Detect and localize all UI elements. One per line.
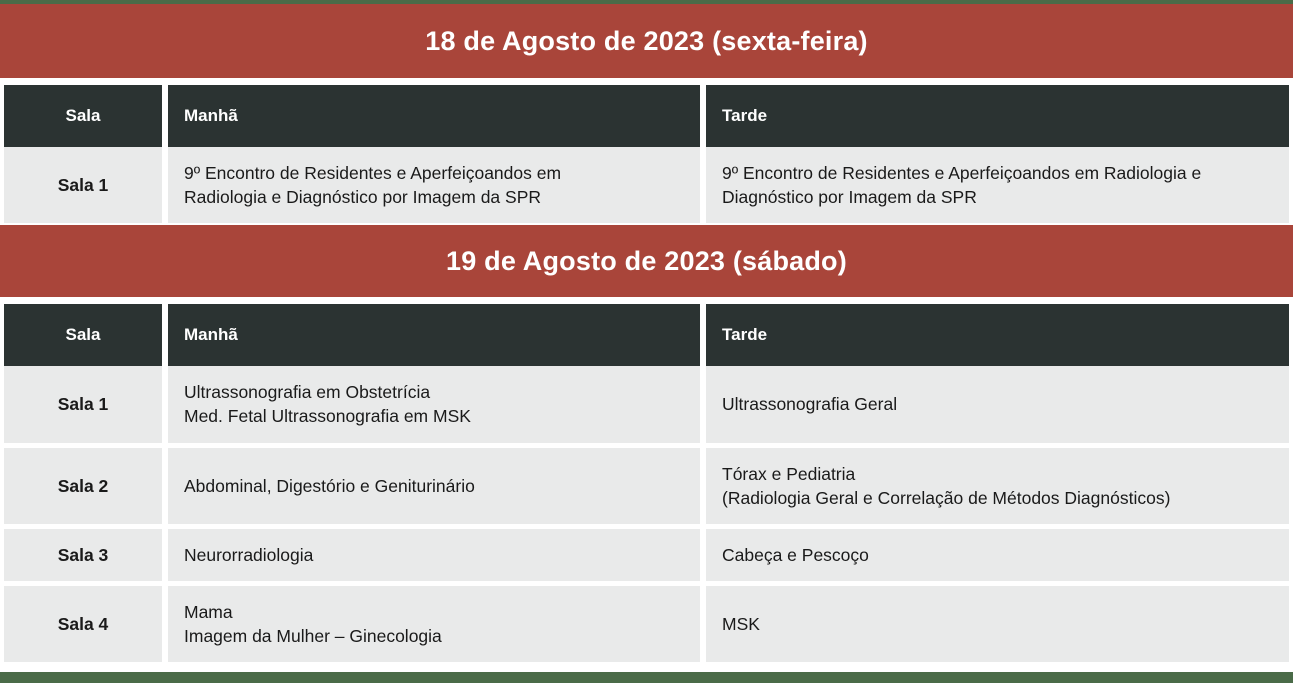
cell-tarde: 9º Encontro de Residentes e Aperfeiçoand… — [703, 147, 1293, 223]
table-header-day-1: Sala Manhã Tarde — [0, 85, 1293, 147]
cell-text-line: Cabeça e Pescoço — [722, 543, 1273, 567]
header-row: Sala Manhã Tarde — [0, 304, 1293, 366]
cell-text-line: Med. Fetal Ultrassonografia em MSK — [184, 404, 684, 428]
table-row: Sala 2 Abdominal, Digestório e Geniturin… — [0, 448, 1293, 529]
cell-text-line: Ultrassonografia Geral — [722, 392, 1273, 416]
cell-text-line: Tórax e Pediatria — [722, 462, 1273, 486]
cell-sala: Sala 1 — [0, 147, 165, 223]
cell-manha: Neurorradiologia — [165, 529, 703, 586]
cell-text-line: 9º Encontro de Residentes e Aperfeiçoand… — [184, 161, 684, 185]
cell-tarde: Ultrassonografia Geral — [703, 366, 1293, 447]
cell-manha: Abdominal, Digestório e Geniturinário — [165, 448, 703, 529]
cell-manha: Ultrassonografia em Obstetrícia Med. Fet… — [165, 366, 703, 447]
cell-text-line: Ultrassonografia em Obstetrícia — [184, 380, 684, 404]
table-header-day-2: Sala Manhã Tarde — [0, 304, 1293, 366]
cell-tarde: Cabeça e Pescoço — [703, 529, 1293, 586]
cell-text-line: 9º Encontro de Residentes e Aperfeiçoand… — [722, 161, 1273, 185]
schedule-body: 18 de Agosto de 2023 (sexta-feira) Sala … — [0, 4, 1293, 672]
column-header-manha: Manhã — [165, 304, 703, 366]
cell-text-line: Mama — [184, 600, 684, 624]
bottom-green-rule — [0, 672, 1293, 683]
column-header-tarde: Tarde — [703, 304, 1293, 366]
cell-text-line: Abdominal, Digestório e Geniturinário — [184, 474, 684, 498]
cell-sala: Sala 1 — [0, 366, 165, 447]
table-row: Sala 1 Ultrassonografia em Obstetrícia M… — [0, 366, 1293, 447]
table-body-day-2: Sala 1 Ultrassonografia em Obstetrícia M… — [0, 366, 1293, 662]
header-row: Sala Manhã Tarde — [0, 85, 1293, 147]
column-header-manha: Manhã — [165, 85, 703, 147]
cell-tarde: Tórax e Pediatria (Radiologia Geral e Co… — [703, 448, 1293, 529]
schedule-table-day-1: Sala Manhã Tarde Sala 1 9º Encontro de R… — [0, 85, 1293, 223]
cell-text-line: Imagem da Mulher – Ginecologia — [184, 624, 684, 648]
column-header-sala: Sala — [0, 85, 165, 147]
cell-tarde: MSK — [703, 586, 1293, 662]
cell-text-line: MSK — [722, 612, 1273, 636]
cell-sala: Sala 2 — [0, 448, 165, 529]
cell-text-line: Diagnóstico por Imagem da SPR — [722, 185, 1273, 209]
cell-text-line: Neurorradiologia — [184, 543, 684, 567]
table-row: Sala 1 9º Encontro de Residentes e Aperf… — [0, 147, 1293, 223]
column-header-sala: Sala — [0, 304, 165, 366]
table-row: Sala 3 Neurorradiologia Cabeça e Pescoço — [0, 529, 1293, 586]
column-header-tarde: Tarde — [703, 85, 1293, 147]
table-body-day-1: Sala 1 9º Encontro de Residentes e Aperf… — [0, 147, 1293, 223]
day-banner-title-1: 18 de Agosto de 2023 (sexta-feira) — [0, 4, 1293, 78]
schedule-page: 18 de Agosto de 2023 (sexta-feira) Sala … — [0, 0, 1293, 683]
cell-manha: Mama Imagem da Mulher – Ginecologia — [165, 586, 703, 662]
day-block-2: 19 de Agosto de 2023 (sábado) Sala Manhã… — [0, 223, 1293, 662]
cell-manha: 9º Encontro de Residentes e Aperfeiçoand… — [165, 147, 703, 223]
day-block-1: 18 de Agosto de 2023 (sexta-feira) Sala … — [0, 4, 1293, 223]
schedule-table-day-2: Sala Manhã Tarde Sala 1 Ultrassonografia… — [0, 304, 1293, 662]
cell-sala: Sala 3 — [0, 529, 165, 586]
cell-text-line: Radiologia e Diagnóstico por Imagem da S… — [184, 185, 684, 209]
table-row: Sala 4 Mama Imagem da Mulher – Ginecolog… — [0, 586, 1293, 662]
day-banner-title-2: 19 de Agosto de 2023 (sábado) — [0, 225, 1293, 297]
cell-sala: Sala 4 — [0, 586, 165, 662]
cell-text-line: (Radiologia Geral e Correlação de Método… — [722, 486, 1273, 510]
